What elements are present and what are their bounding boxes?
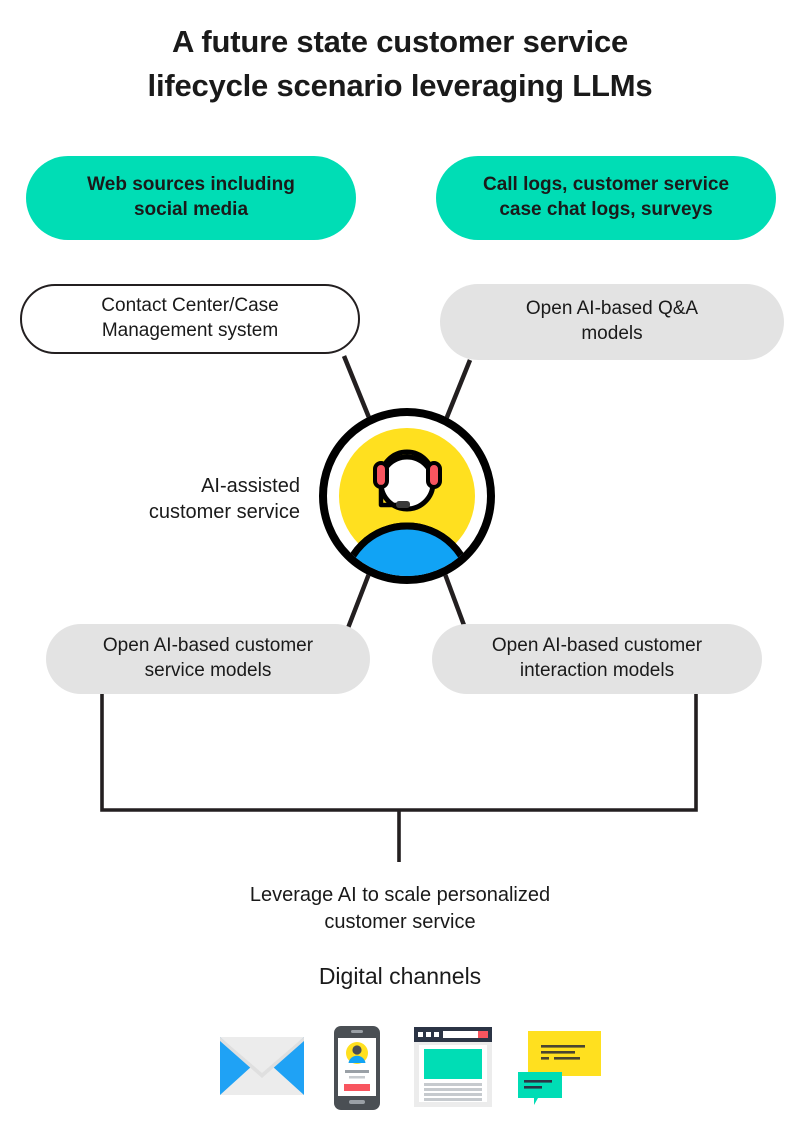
node-contact-center-line-2: Management system — [102, 320, 278, 341]
node-call-logs-line-2: case chat logs, surveys — [499, 199, 712, 220]
center-node-label-line-1: AI-assisted — [100, 473, 300, 499]
node-interaction-models-line-1: Open AI-based customer — [492, 635, 702, 656]
digital-channels-heading: Digital channels — [0, 963, 800, 990]
connector-qa-models — [443, 360, 470, 427]
node-web-sources-label: Web sources including social media — [71, 173, 311, 222]
node-service-models[interactable]: Open AI-based customer service models — [46, 624, 370, 694]
node-qa-models[interactable]: Open AI-based Q&A models — [440, 284, 784, 360]
connector-contact-center — [344, 356, 372, 425]
browser-icon — [414, 1027, 492, 1107]
node-service-models-line-1: Open AI-based customer — [103, 635, 313, 656]
node-call-logs-line-1: Call logs, customer service — [483, 174, 729, 195]
node-qa-models-line-2: models — [581, 323, 642, 344]
chat-icon — [518, 1031, 601, 1105]
mobile-icon — [334, 1026, 380, 1110]
connector-service-models — [348, 566, 372, 628]
email-icon — [220, 1037, 304, 1095]
outcome-statement: Leverage AI to scale personalized custom… — [0, 882, 800, 936]
outcome-statement-line-2: customer service — [0, 909, 800, 936]
node-contact-center[interactable]: Contact Center/Case Management system — [20, 284, 360, 354]
node-contact-center-line-1: Contact Center/Case — [101, 295, 278, 316]
outcome-statement-line-1: Leverage AI to scale personalized — [0, 882, 800, 909]
node-call-logs[interactable]: Call logs, customer service case chat lo… — [436, 156, 776, 240]
title-line-1: A future state customer service — [0, 20, 800, 64]
node-web-sources[interactable]: Web sources including social media — [26, 156, 356, 240]
page-title: A future state customer service lifecycl… — [0, 20, 800, 108]
center-node-label-line-2: customer service — [100, 499, 300, 525]
node-interaction-models-line-2: interaction models — [520, 660, 674, 681]
node-contact-center-label: Contact Center/Case Management system — [85, 294, 294, 343]
node-web-sources-line-2: social media — [134, 199, 248, 220]
title-line-2: lifecycle scenario leveraging LLMs — [0, 64, 800, 108]
node-service-models-label: Open AI-based customer service models — [87, 634, 329, 683]
diagram-canvas: A future state customer service lifecycl… — [0, 0, 800, 1130]
node-qa-models-label: Open AI-based Q&A models — [510, 297, 714, 346]
center-node-label: AI-assisted customer service — [100, 473, 300, 526]
node-interaction-models-label: Open AI-based customer interaction model… — [476, 634, 718, 683]
node-interaction-models[interactable]: Open AI-based customer interaction model… — [432, 624, 762, 694]
bracket-path — [102, 694, 696, 810]
node-web-sources-line-1: Web sources including — [87, 174, 295, 195]
node-qa-models-line-1: Open AI-based Q&A — [526, 298, 698, 319]
connector-interaction-models — [442, 566, 465, 628]
node-call-logs-label: Call logs, customer service case chat lo… — [467, 173, 745, 222]
node-service-models-line-2: service models — [145, 660, 272, 681]
